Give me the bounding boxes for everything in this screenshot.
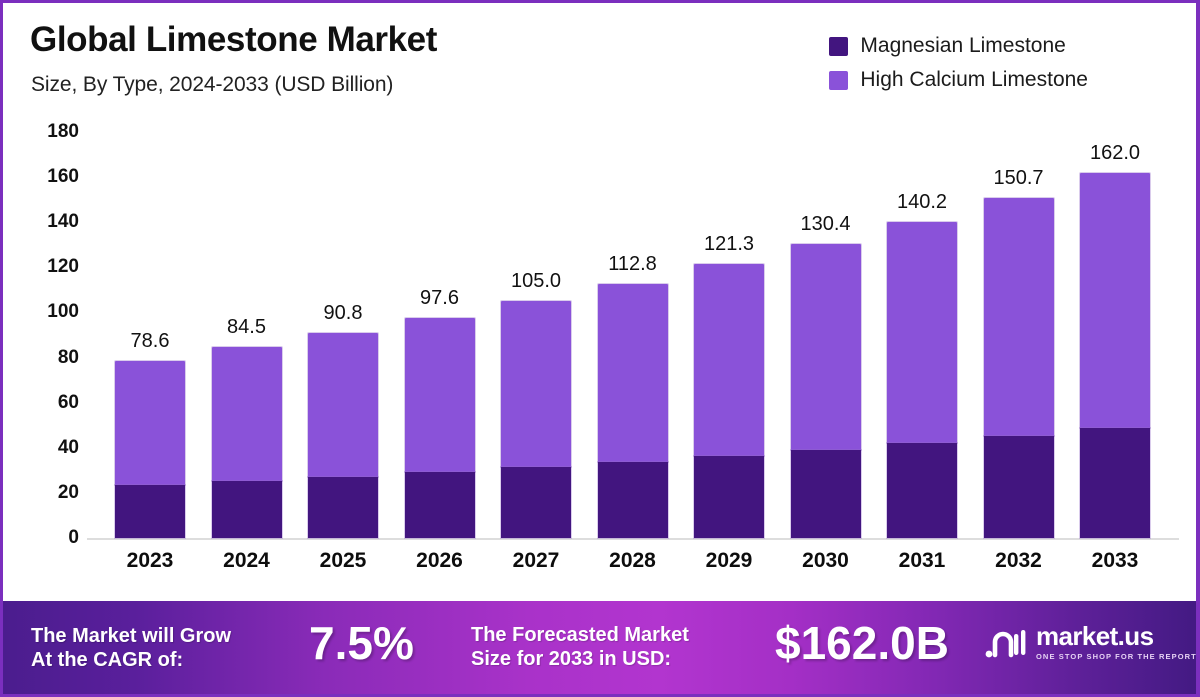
y-axis-tick-label: 0 — [17, 527, 79, 549]
bar-value-label: 84.5 — [227, 316, 266, 339]
y-axis-tick-label: 160 — [17, 166, 79, 188]
y-axis-tick-label: 40 — [17, 437, 79, 459]
bar-segment-high-calcium-limestone[interactable] — [405, 318, 475, 472]
x-axis-tick-label: 2029 — [681, 549, 777, 573]
x-axis-tick-label: 2033 — [1067, 549, 1163, 573]
bar-group[interactable]: 84.5 — [212, 347, 282, 538]
bar-segment-magnesian-limestone[interactable] — [887, 443, 957, 538]
forecast-label-line1: The Forecasted Market — [471, 624, 689, 648]
y-axis-tick-label: 180 — [17, 121, 79, 143]
bar-series-container: 78.684.590.897.6105.0112.8121.3130.4140.… — [99, 123, 1181, 539]
y-axis-tick-label: 60 — [17, 392, 79, 414]
x-axis-tick-label: 2024 — [199, 549, 295, 573]
bar-group[interactable]: 78.6 — [115, 361, 185, 538]
market-us-logo[interactable]: market.us ONE STOP SHOP FOR THE REPORTS — [983, 623, 1200, 661]
x-axis-tick-label: 2023 — [102, 549, 198, 573]
bar-value-label: 140.2 — [897, 191, 947, 214]
bar-segment-magnesian-limestone[interactable] — [405, 472, 475, 538]
x-axis-tick-label: 2032 — [971, 549, 1067, 573]
logo-text-block: market.us ONE STOP SHOP FOR THE REPORTS — [1036, 623, 1200, 661]
forecast-label-line2: Size for 2033 in USD: — [471, 648, 689, 672]
bar-segment-magnesian-limestone[interactable] — [115, 485, 185, 538]
bar-segment-magnesian-limestone[interactable] — [1080, 428, 1150, 538]
cagr-label-line2: At the CAGR of: — [31, 649, 231, 673]
bar-value-label: 90.8 — [324, 302, 363, 325]
cagr-value: 7.5% — [309, 620, 414, 666]
bar-segment-magnesian-limestone[interactable] — [598, 462, 668, 538]
bar-segment-magnesian-limestone[interactable] — [501, 467, 571, 538]
bar-segment-high-calcium-limestone[interactable] — [501, 301, 571, 467]
bar-value-label: 121.3 — [704, 233, 754, 256]
x-axis-tick-label: 2030 — [778, 549, 874, 573]
cagr-label: The Market will Grow At the CAGR of: — [31, 625, 231, 672]
bar-segment-high-calcium-limestone[interactable] — [598, 284, 668, 462]
bar-value-label: 112.8 — [608, 253, 657, 276]
y-axis: 020406080100120140160180 — [17, 3, 79, 603]
y-axis-tick-label: 120 — [17, 256, 79, 278]
bar-segment-high-calcium-limestone[interactable] — [1080, 173, 1150, 429]
bar-value-label: 150.7 — [993, 167, 1043, 190]
bar-segment-high-calcium-limestone[interactable] — [984, 198, 1054, 436]
bar-segment-high-calcium-limestone[interactable] — [887, 222, 957, 443]
bar-group[interactable]: 105.0 — [501, 301, 571, 538]
chart-plot-area: 020406080100120140160180 78.684.590.897.… — [3, 3, 1200, 603]
y-axis-tick-label: 20 — [17, 482, 79, 504]
bar-group[interactable]: 162.0 — [1080, 173, 1150, 538]
y-axis-tick-label: 100 — [17, 301, 79, 323]
bar-group[interactable]: 97.6 — [405, 318, 475, 538]
bar-segment-magnesian-limestone[interactable] — [984, 436, 1054, 538]
bar-value-label: 130.4 — [800, 213, 850, 236]
logo-name: market.us — [1036, 623, 1200, 649]
bar-group[interactable]: 112.8 — [598, 284, 668, 538]
x-axis-tick-label: 2031 — [874, 549, 970, 573]
bar-segment-high-calcium-limestone[interactable] — [791, 244, 861, 450]
bar-group[interactable]: 150.7 — [984, 198, 1054, 538]
bar-group[interactable]: 90.8 — [308, 333, 378, 538]
market-us-logo-icon — [983, 624, 1027, 660]
bar-group[interactable]: 121.3 — [694, 264, 764, 538]
x-axis-tick-label: 2026 — [392, 549, 488, 573]
y-axis-tick-label: 80 — [17, 347, 79, 369]
bar-segment-high-calcium-limestone[interactable] — [308, 333, 378, 476]
chart-infographic: Global Limestone Market Size, By Type, 2… — [0, 0, 1200, 697]
cagr-label-line1: The Market will Grow — [31, 625, 231, 649]
bar-segment-high-calcium-limestone[interactable] — [115, 361, 185, 485]
bar-value-label: 97.6 — [420, 287, 459, 310]
bar-segment-high-calcium-limestone[interactable] — [694, 264, 764, 455]
bar-value-label: 105.0 — [511, 270, 561, 293]
bar-segment-magnesian-limestone[interactable] — [791, 450, 861, 538]
y-axis-tick-label: 140 — [17, 211, 79, 233]
forecast-label: The Forecasted Market Size for 2033 in U… — [471, 624, 689, 671]
bar-group[interactable]: 130.4 — [791, 244, 861, 538]
x-axis-tick-label: 2025 — [295, 549, 391, 573]
bar-segment-high-calcium-limestone[interactable] — [212, 347, 282, 481]
bar-segment-magnesian-limestone[interactable] — [308, 477, 378, 538]
bar-segment-magnesian-limestone[interactable] — [694, 456, 764, 538]
logo-tagline: ONE STOP SHOP FOR THE REPORTS — [1036, 652, 1200, 661]
bar-group[interactable]: 140.2 — [887, 222, 957, 538]
bar-segment-magnesian-limestone[interactable] — [212, 481, 282, 538]
forecast-value: $162.0B — [775, 620, 949, 666]
bar-value-label: 78.6 — [131, 330, 170, 353]
x-axis-tick-label: 2028 — [585, 549, 681, 573]
x-axis-tick-label: 2027 — [488, 549, 584, 573]
bar-value-label: 162.0 — [1090, 142, 1140, 165]
